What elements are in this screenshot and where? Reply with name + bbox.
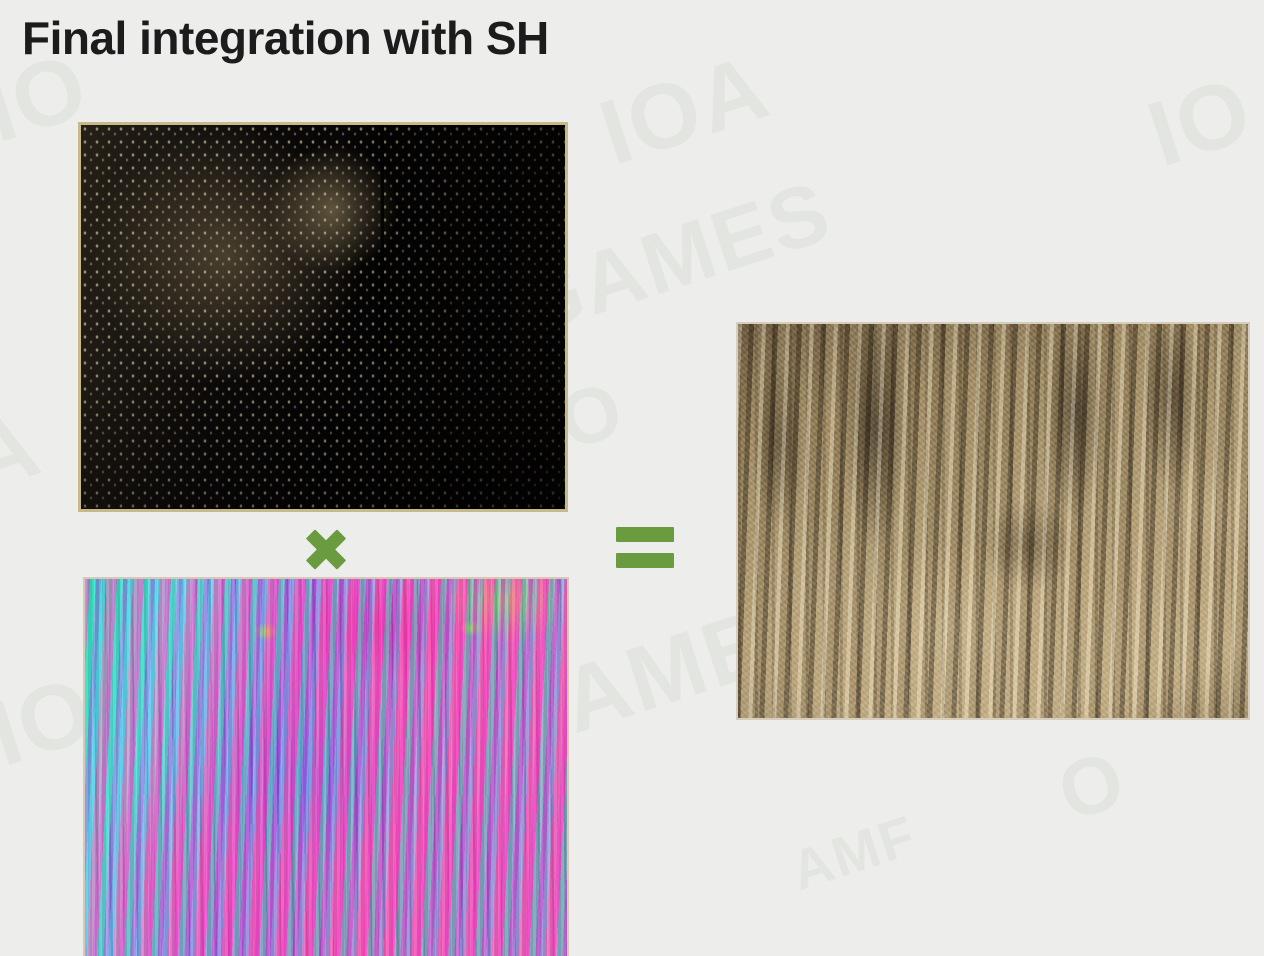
equals-operator-icon	[616, 525, 674, 571]
page-title: Final integration with SH	[22, 12, 549, 65]
result-render-vignette	[738, 324, 1248, 718]
normal-map-image	[83, 577, 569, 956]
equals-bar-top	[616, 527, 674, 542]
watermark-text: AMF	[783, 802, 924, 903]
sh-texture-image	[78, 122, 568, 512]
watermark-text: A	[0, 392, 53, 513]
result-render-image	[736, 322, 1250, 720]
watermark-text: IOA	[588, 34, 782, 186]
watermark-text: IO	[1136, 57, 1264, 188]
equals-bar-bottom	[616, 553, 674, 568]
presentation-slide: IO IOA IO GAMES A O AME IOE AMF O Final …	[0, 0, 1264, 956]
multiply-operator-icon	[299, 522, 353, 576]
normal-map-streaks	[85, 579, 567, 956]
watermark-text: O	[1047, 732, 1137, 839]
sh-texture-vignette	[81, 125, 565, 509]
